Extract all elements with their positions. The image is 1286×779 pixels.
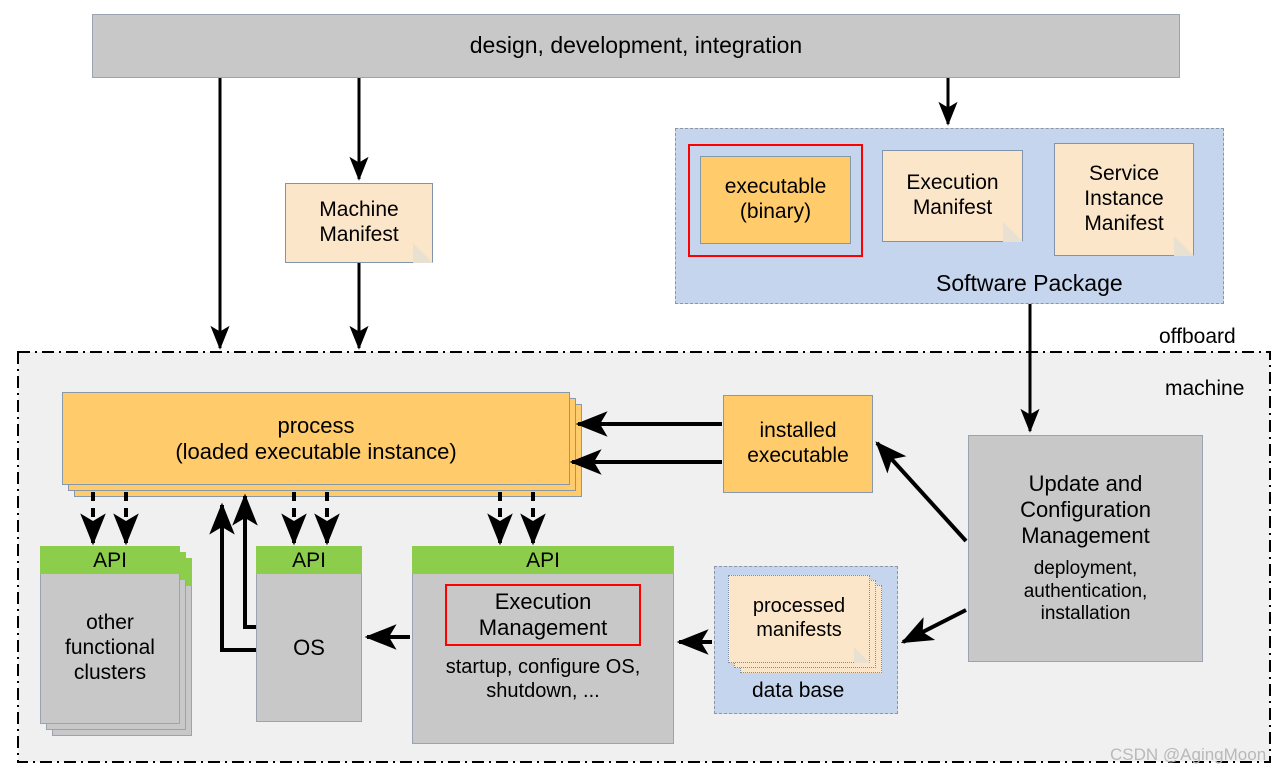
service-instance-line2: Instance: [1084, 187, 1163, 212]
executable-line1: executable: [725, 175, 827, 200]
os-api-bar: API: [256, 546, 362, 574]
execution-management-sub2: shutdown, ...: [486, 680, 599, 704]
update-configuration-management-box: Update and Configuration Management depl…: [968, 435, 1203, 662]
offboard-label-text: offboard: [1159, 325, 1236, 348]
execution-manifest-note: Execution Manifest: [882, 150, 1023, 242]
other-functional-clusters-box: other functional clusters: [40, 574, 180, 724]
other-clusters-line3: clusters: [74, 661, 146, 686]
ucm-line3: Management: [1021, 523, 1149, 549]
watermark: CSDN @AgingMoon: [1110, 745, 1266, 765]
service-instance-line1: Service: [1089, 162, 1159, 187]
machine-manifest-line1: Machine: [319, 198, 398, 223]
design-bar-label: design, development, integration: [470, 32, 802, 59]
processed-manifests-line2: manifests: [756, 619, 842, 643]
execution-management-api-bar: API: [412, 546, 674, 574]
other-clusters-api-bar: API: [40, 546, 180, 574]
execution-management-api-label: API: [526, 549, 560, 573]
execution-manifest-line2: Manifest: [913, 196, 992, 221]
execution-management-sub1: startup, configure OS,: [446, 656, 641, 680]
other-clusters-line2: functional: [65, 636, 155, 661]
executable-binary-box: executable (binary): [700, 156, 851, 244]
execution-management-line2: Management: [479, 615, 607, 641]
execution-manifest-line1: Execution: [906, 171, 998, 196]
os-label: OS: [293, 635, 325, 661]
ucm-sub3: installation: [1041, 603, 1131, 625]
diagram-canvas: design, development, integration Machine…: [0, 0, 1286, 779]
process-line2: (loaded executable instance): [175, 439, 456, 465]
dogear-icon: [413, 243, 433, 263]
installed-exec-line2: executable: [747, 444, 849, 469]
dogear-icon: [1003, 222, 1023, 242]
other-clusters-api-label: API: [93, 549, 127, 573]
machine-label-text: machine: [1165, 377, 1244, 400]
os-api-label: API: [292, 549, 326, 573]
dogear-icon: [1174, 236, 1194, 256]
machine-manifest-line2: Manifest: [319, 223, 398, 248]
database-label: data base: [752, 679, 844, 703]
ucm-line1: Update and: [1029, 471, 1143, 497]
executable-line2: (binary): [740, 200, 811, 225]
execution-management-line1: Execution: [495, 589, 592, 615]
installed-executable-box: installed executable: [723, 395, 873, 493]
installed-exec-line1: installed: [759, 419, 836, 444]
dogear-icon: [854, 647, 870, 663]
watermark-text: CSDN @AgingMoon: [1110, 745, 1266, 764]
service-instance-manifest-note: Service Instance Manifest: [1054, 143, 1194, 256]
os-box: OS: [256, 574, 362, 722]
processed-manifests-doc: processed manifests: [728, 575, 870, 663]
software-package-label-text: Software Package: [936, 270, 1123, 296]
ucm-sub1: deployment,: [1034, 558, 1138, 580]
offboard-label: offboard: [1159, 325, 1236, 349]
design-development-integration-bar: design, development, integration: [92, 14, 1180, 78]
other-clusters-line1: other: [86, 611, 134, 636]
processed-manifests-line1: processed: [753, 595, 845, 619]
service-instance-line3: Manifest: [1084, 212, 1163, 237]
ucm-sub2: authentication,: [1024, 581, 1148, 603]
machine-label: machine: [1165, 377, 1244, 401]
ucm-line2: Configuration: [1020, 497, 1151, 523]
process-box: process (loaded executable instance): [62, 392, 570, 485]
process-line1: process: [277, 413, 354, 439]
machine-manifest-note: Machine Manifest: [285, 183, 433, 263]
execution-management-highlight-box: Execution Management: [445, 584, 641, 646]
software-package-label: Software Package: [936, 270, 1123, 297]
database-label-text: data base: [752, 679, 844, 702]
